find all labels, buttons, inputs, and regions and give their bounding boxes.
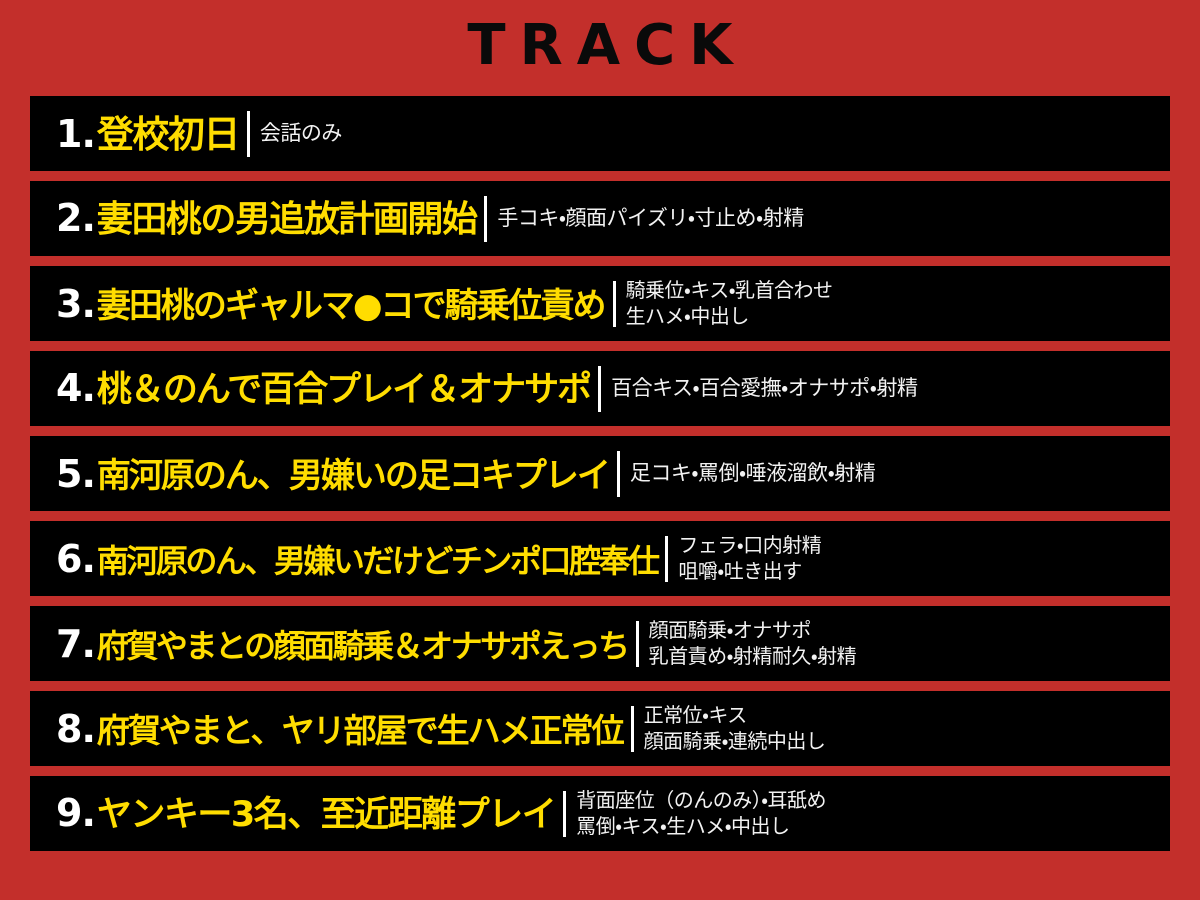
track-row: 8. 府賀やまと、ヤリ部屋で生ハメ正常位 正常位・キス 顔面騎乗・連続中出し — [30, 691, 1170, 766]
track-description: 顔面騎乗・オナサポ 乳首責め・射精耐久・射精 — [649, 618, 1156, 669]
track-number: 8. — [56, 710, 95, 748]
track-description-line: 正常位・キス — [644, 703, 1156, 729]
track-description-line: 乳首責め・射精耐久・射精 — [649, 644, 1156, 670]
track-row: 2. 妻田桃の男追放計画開始 手コキ・顔面パイズリ・寸止め・射精 — [30, 181, 1170, 256]
divider — [636, 621, 639, 667]
track-title: 南河原のん、男嫌いだけどチンポ口腔奉仕 — [97, 545, 658, 577]
track-title: 妻田桃のギャルマ●コで騎乗位責め — [97, 289, 605, 323]
track-heading: 3. 妻田桃のギャルマ●コで騎乗位責め — [56, 285, 605, 323]
divider — [598, 366, 601, 412]
track-title: 登校初日 — [97, 116, 239, 153]
track-title: ヤンキー3名、至近距離プレイ — [97, 798, 555, 833]
track-poster: TRACK 1. 登校初日 会話のみ 2. 妻田桃の男追放計画開始 手コキ・顔面… — [0, 0, 1200, 900]
track-title: 妻田桃の男追放計画開始 — [97, 202, 477, 238]
track-number: 9. — [56, 794, 95, 832]
divider — [563, 791, 566, 837]
track-row: 9. ヤンキー3名、至近距離プレイ 背面座位（のんのみ）・耳舐め 罵倒・キス・生… — [30, 776, 1170, 851]
page-title: TRACK — [453, 18, 746, 74]
track-description-line: 背面座位（のんのみ）・耳舐め — [576, 788, 1156, 814]
track-heading: 1. 登校初日 — [56, 115, 239, 153]
track-number: 1. — [56, 115, 95, 153]
poster-header: TRACK — [0, 0, 1200, 92]
track-description-line: 咀嚼・吐き出す — [678, 559, 1156, 585]
track-row: 3. 妻田桃のギャルマ●コで騎乗位責め 騎乗位・キス・乳首合わせ 生ハメ・中出し — [30, 266, 1170, 341]
track-description-line: 騎乗位・キス・乳首合わせ — [626, 278, 1156, 304]
track-description: 会話のみ — [260, 120, 1156, 147]
divider — [665, 536, 668, 582]
track-heading: 2. 妻田桃の男追放計画開始 — [56, 199, 476, 238]
track-description-line: 顔面騎乗・連続中出し — [644, 729, 1156, 755]
track-row: 6. 南河原のん、男嫌いだけどチンポ口腔奉仕 フェラ・口内射精 咀嚼・吐き出す — [30, 521, 1170, 596]
track-heading: 7. 府賀やまとの顔面騎乗＆オナサポえっち — [56, 625, 628, 663]
track-list: 1. 登校初日 会話のみ 2. 妻田桃の男追放計画開始 手コキ・顔面パイズリ・寸… — [30, 96, 1170, 861]
track-number: 7. — [56, 625, 95, 663]
track-description-line: 会話のみ — [260, 120, 1156, 147]
track-description: 正常位・キス 顔面騎乗・連続中出し — [644, 703, 1156, 754]
divider — [613, 281, 616, 327]
track-heading: 9. ヤンキー3名、至近距離プレイ — [56, 794, 555, 833]
track-number: 2. — [56, 199, 95, 237]
track-number: 5. — [56, 455, 95, 493]
track-title: 府賀やまとの顔面騎乗＆オナサポえっち — [97, 630, 628, 662]
track-heading: 4. 桃＆のんで百合プレイ＆オナサポ — [56, 369, 590, 408]
track-description-line: 足コキ・罵倒・唾液溜飲・射精 — [630, 460, 1156, 487]
track-description: 背面座位（のんのみ）・耳舐め 罵倒・キス・生ハメ・中出し — [576, 788, 1156, 839]
track-title: 南河原のん、男嫌いの足コキプレイ — [97, 459, 609, 493]
track-number: 4. — [56, 369, 95, 407]
track-row: 5. 南河原のん、男嫌いの足コキプレイ 足コキ・罵倒・唾液溜飲・射精 — [30, 436, 1170, 511]
track-row: 4. 桃＆のんで百合プレイ＆オナサポ 百合キス・百合愛撫・オナサポ・射精 — [30, 351, 1170, 426]
track-row: 7. 府賀やまとの顔面騎乗＆オナサポえっち 顔面騎乗・オナサポ 乳首責め・射精耐… — [30, 606, 1170, 681]
track-heading: 6. 南河原のん、男嫌いだけどチンポ口腔奉仕 — [56, 540, 657, 578]
divider — [617, 451, 620, 497]
track-description: フェラ・口内射精 咀嚼・吐き出す — [678, 533, 1156, 584]
track-title: 府賀やまと、ヤリ部屋で生ハメ正常位 — [97, 714, 623, 747]
track-heading: 5. 南河原のん、男嫌いの足コキプレイ — [56, 455, 609, 493]
track-row: 1. 登校初日 会話のみ — [30, 96, 1170, 171]
track-description-line: 罵倒・キス・生ハメ・中出し — [576, 814, 1156, 840]
track-number: 6. — [56, 540, 95, 578]
track-description: 百合キス・百合愛撫・オナサポ・射精 — [611, 375, 1156, 402]
track-description-line: 百合キス・百合愛撫・オナサポ・射精 — [611, 375, 1156, 402]
track-description-line: 生ハメ・中出し — [626, 304, 1156, 330]
track-description-line: 顔面騎乗・オナサポ — [649, 618, 1156, 644]
track-description: 手コキ・顔面パイズリ・寸止め・射精 — [497, 205, 1156, 232]
track-title: 桃＆のんで百合プレイ＆オナサポ — [97, 373, 590, 408]
track-description-line: フェラ・口内射精 — [678, 533, 1156, 559]
track-number: 3. — [56, 285, 95, 323]
track-description-line: 手コキ・顔面パイズリ・寸止め・射精 — [497, 205, 1156, 232]
track-description: 騎乗位・キス・乳首合わせ 生ハメ・中出し — [626, 278, 1156, 329]
track-description: 足コキ・罵倒・唾液溜飲・射精 — [630, 460, 1156, 487]
divider — [631, 706, 634, 752]
divider — [484, 196, 487, 242]
divider — [247, 111, 250, 157]
track-heading: 8. 府賀やまと、ヤリ部屋で生ハメ正常位 — [56, 710, 623, 748]
